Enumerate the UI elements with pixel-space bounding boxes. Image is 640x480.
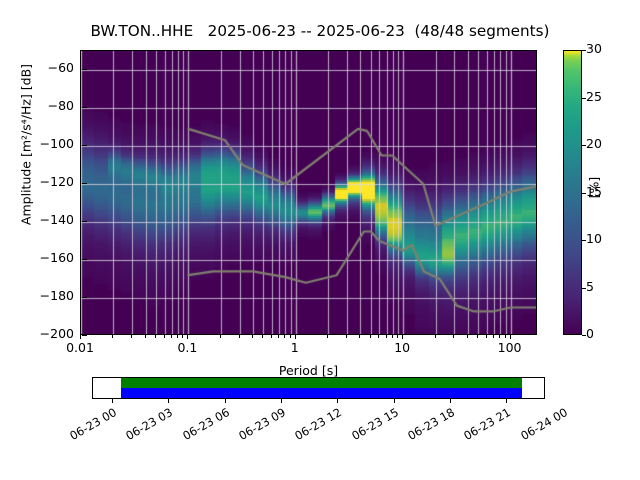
timeline-tick-label: 06-23 00 <box>58 405 119 448</box>
timeline-ticks: 06-23 0006-23 0306-23 0606-23 0906-23 12… <box>0 0 640 480</box>
timeline-tick-mark <box>337 399 338 403</box>
timeline-tick-label: 06-23 06 <box>171 405 232 448</box>
timeline-tick-mark <box>168 399 169 403</box>
timeline-tick-mark <box>225 399 226 403</box>
timeline-tick-label: 06-23 15 <box>340 405 401 448</box>
timeline-tick-mark <box>281 399 282 403</box>
timeline-tick-label: 06-23 03 <box>114 405 175 448</box>
timeline-tick-label: 06-23 21 <box>453 405 514 448</box>
timeline-tick-label: 06-23 09 <box>227 405 288 448</box>
timeline-tick-label: 06-24 00 <box>509 405 570 448</box>
timeline-tick-label: 06-23 18 <box>396 405 457 448</box>
ppsd-figure: BW.TON..HHE 2025-06-23 -- 2025-06-23 (48… <box>0 0 640 480</box>
timeline-tick-mark <box>506 399 507 403</box>
timeline-tick-mark <box>394 399 395 403</box>
timeline-tick-mark <box>450 399 451 403</box>
timeline-tick-label: 06-23 12 <box>284 405 345 448</box>
timeline-tick-mark <box>112 399 113 403</box>
